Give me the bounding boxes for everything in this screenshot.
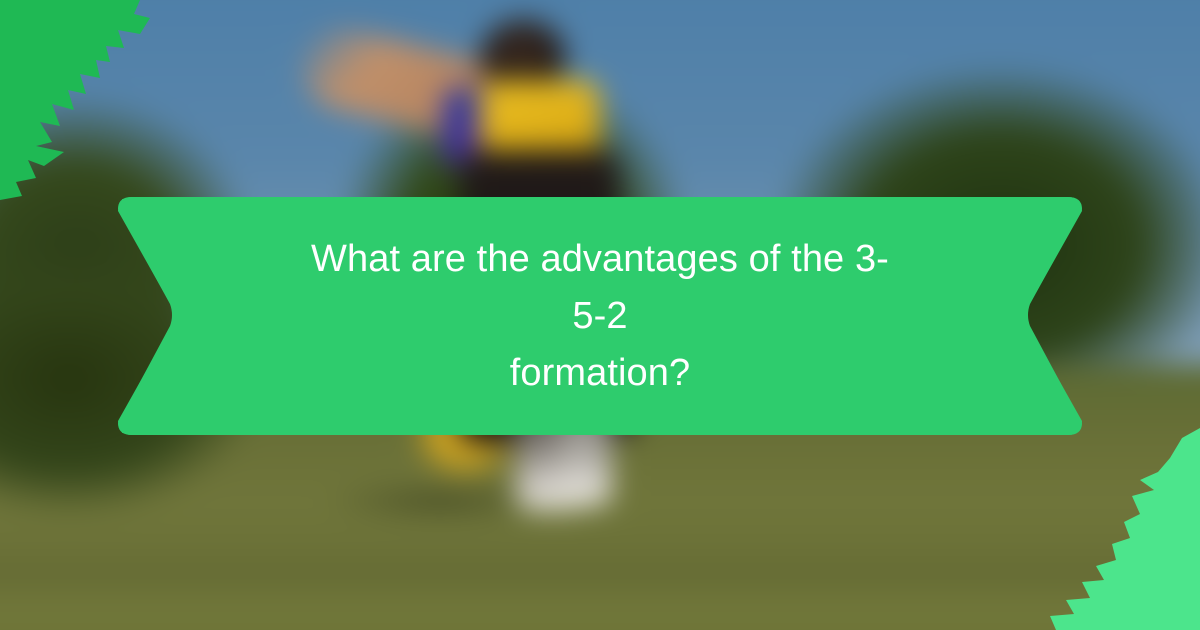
torn-paper-corner-top-left <box>0 0 190 230</box>
headline-line-2: formation? <box>298 345 902 402</box>
question-banner: What are the advantages of the 3-5-2 for… <box>108 197 1092 435</box>
torn-paper-corner-bottom-right <box>1020 410 1200 630</box>
banner-headline: What are the advantages of the 3-5-2 for… <box>108 197 1092 435</box>
share-card: What are the advantages of the 3-5-2 for… <box>0 0 1200 630</box>
headline-line-1: What are the advantages of the 3-5-2 <box>298 231 902 345</box>
